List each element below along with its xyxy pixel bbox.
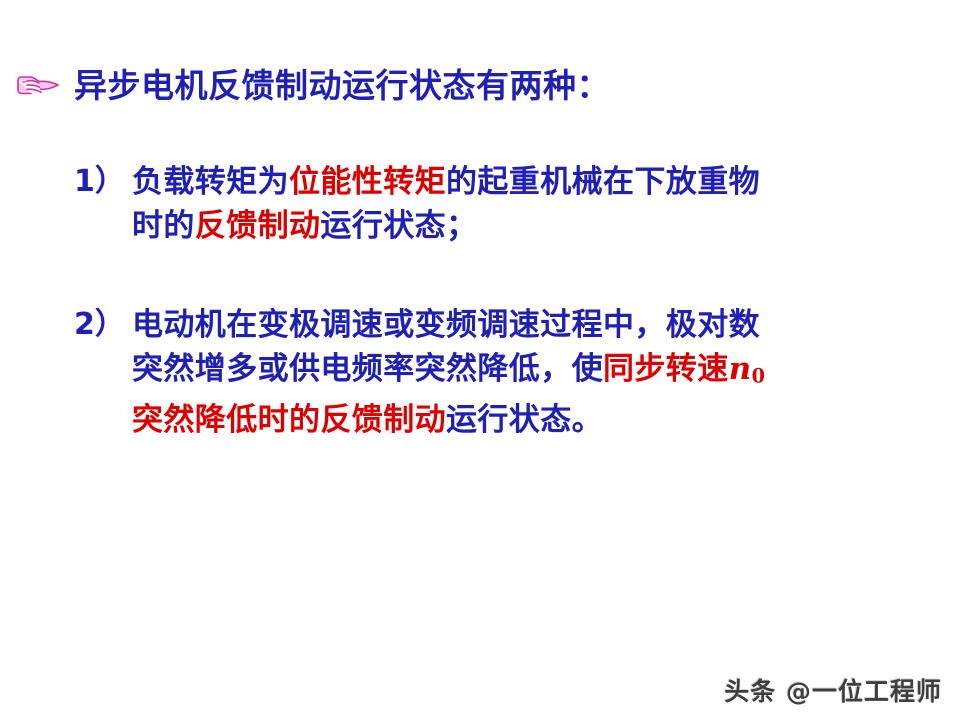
list-item-lines: 负载转矩为位能性转矩的起重机械在下放重物 时的反馈制动运行状态； <box>132 160 944 248</box>
text-segment: 负载转矩为 <box>132 164 289 200</box>
watermark: 头条 @一位工程师 <box>724 672 942 708</box>
text-line: 时的反馈制动运行状态； <box>132 204 944 248</box>
text-segment-highlight: 同步转速 <box>603 351 729 387</box>
text-line: 突然降低时的反馈制动运行状态。 <box>132 398 944 442</box>
text-line: 电动机在变极调速或变频调速过程中，极对数 <box>132 303 944 347</box>
list-item-marker: 1） <box>74 160 132 204</box>
symbol-subscript: 0 <box>752 364 766 387</box>
text-segment-highlight: 突然降低时的反馈制动 <box>132 402 446 438</box>
heading: 异步电机反馈制动运行状态有两种： <box>14 68 610 102</box>
text-segment: 突然增多或供电频率突然降低，使 <box>132 351 603 387</box>
list-item: 1） 负载转矩为位能性转矩的起重机械在下放重物 时的反馈制动运行状态； <box>74 160 944 248</box>
heading-text: 异步电机反馈制动运行状态有两种： <box>74 69 610 102</box>
text-segment: 的起重机械在下放重物 <box>446 164 760 200</box>
text-line: 负载转矩为位能性转矩的起重机械在下放重物 <box>132 160 944 204</box>
slide-canvas: 异步电机反馈制动运行状态有两种： 1） 负载转矩为位能性转矩的起重机械在下放重物… <box>0 0 960 720</box>
text-segment: 电动机在变极调速或变频调速过程中，极对数 <box>132 307 760 343</box>
list-item: 2） 电动机在变极调速或变频调速过程中，极对数 突然增多或供电频率突然降低，使同… <box>74 303 944 442</box>
content-list: 1） 负载转矩为位能性转矩的起重机械在下放重物 时的反馈制动运行状态； 2） 电… <box>74 160 944 442</box>
symbol-synchronous-speed: n0 <box>729 351 766 387</box>
text-segment-highlight: 反馈制动 <box>195 208 321 244</box>
text-segment: 时的 <box>132 208 195 244</box>
symbol-base: n <box>729 351 752 387</box>
list-item-lines: 电动机在变极调速或变频调速过程中，极对数 突然增多或供电频率突然降低，使同步转速… <box>132 303 944 442</box>
text-segment: 运行状态； <box>320 208 477 244</box>
text-line: 突然增多或供电频率突然降低，使同步转速n0 <box>132 347 944 398</box>
list-item-marker: 2） <box>74 303 132 347</box>
text-segment: 运行状态。 <box>446 402 603 438</box>
pointing-hand-right-icon <box>14 68 60 102</box>
text-segment-highlight: 位能性转矩 <box>289 164 446 200</box>
